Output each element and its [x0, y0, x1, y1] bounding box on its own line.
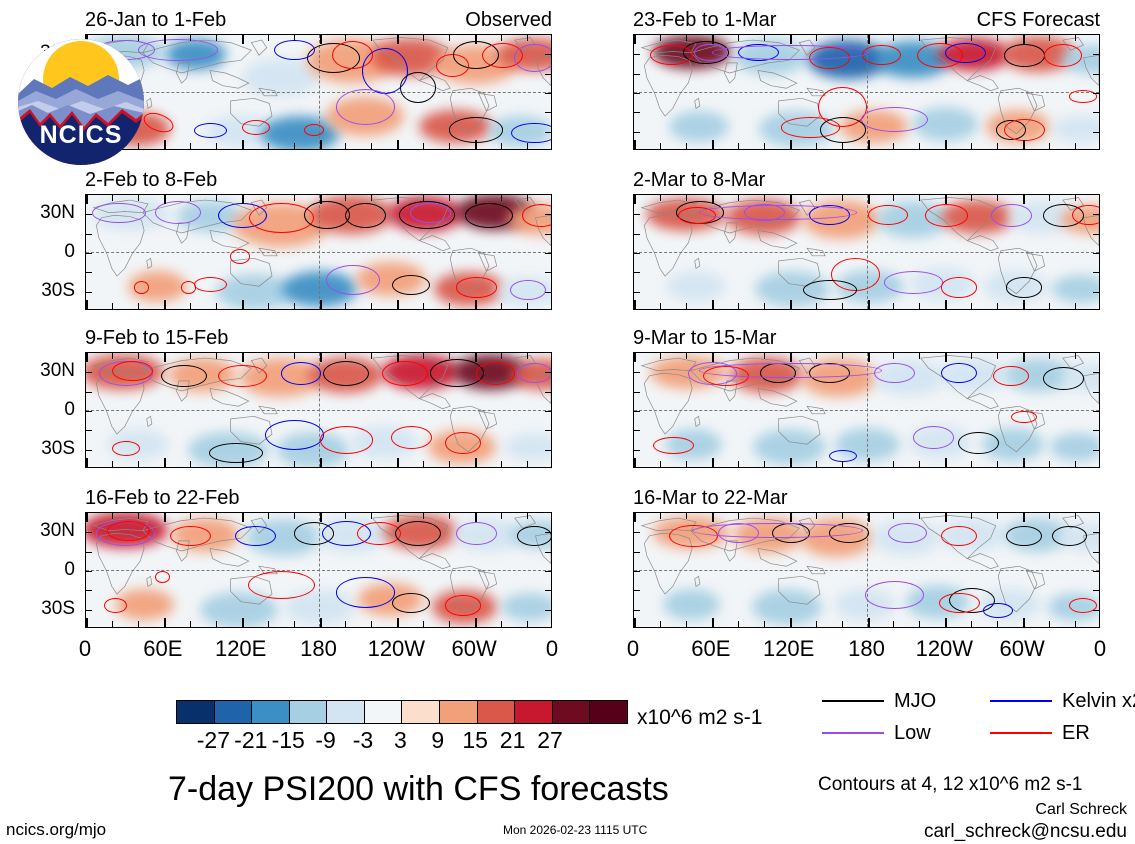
x-tick	[320, 618, 322, 627]
contour-ring-er	[112, 441, 140, 456]
y-tick	[86, 392, 92, 393]
x-tick	[816, 513, 817, 519]
x-tick	[268, 621, 269, 627]
x-tick	[868, 140, 870, 149]
contour-ring-low	[336, 89, 395, 125]
contour-ring-low	[456, 522, 497, 545]
x-tick	[971, 621, 972, 627]
legend-item-er: ER	[990, 720, 1090, 746]
y-tick	[634, 272, 640, 273]
x-tick	[919, 513, 920, 519]
y-tick	[1093, 132, 1099, 133]
colorbar-segment	[440, 701, 478, 723]
contour-ring-mjo	[323, 361, 369, 386]
x-tick	[164, 140, 166, 149]
y-tick	[634, 253, 640, 254]
contours-note: Contours at 4, 12 x10^6 m2 s-1	[818, 774, 1083, 796]
y-tick	[1093, 430, 1099, 431]
colorbar-units-label: x10^6 m2 s-1	[637, 706, 762, 730]
x-tick	[764, 461, 765, 467]
x-tick	[345, 195, 346, 201]
x-tick	[371, 195, 372, 201]
x-tick	[816, 35, 817, 41]
y-tick	[86, 430, 92, 431]
contour-ring-er	[1069, 598, 1097, 613]
y-tick	[86, 214, 92, 215]
y-tick	[545, 132, 551, 133]
x-tick	[945, 300, 947, 309]
x-tick	[397, 140, 399, 149]
y-tick	[634, 234, 640, 235]
x-tick	[764, 353, 765, 359]
x-tick	[634, 458, 636, 467]
x-tick	[86, 618, 88, 627]
x-tick	[997, 621, 998, 627]
x-tick	[112, 513, 113, 519]
colorbar-tick-label: 21	[500, 726, 526, 754]
x-tick	[449, 303, 450, 309]
y-tick	[545, 430, 551, 431]
x-tick	[686, 461, 687, 467]
y-tick	[1093, 214, 1099, 215]
x-tick	[423, 513, 424, 519]
x-tick	[712, 353, 714, 362]
x-tick	[112, 195, 113, 201]
contour-ring-kelvin	[194, 123, 227, 138]
x-tick	[790, 35, 792, 44]
x-tick	[320, 195, 322, 204]
y-tick	[634, 93, 640, 94]
x-tick	[686, 353, 687, 359]
x-tick	[1075, 513, 1076, 519]
x-tick	[997, 195, 998, 201]
x-tick	[764, 303, 765, 309]
contour-ring-mjo	[1052, 526, 1088, 546]
y-tick	[634, 590, 640, 591]
contour-ring-low	[888, 523, 926, 543]
x-tick	[320, 353, 322, 362]
x-tick	[816, 195, 817, 201]
legend-line-swatch	[990, 700, 1052, 702]
x-tick-label: 180	[848, 636, 885, 662]
x-tick	[893, 303, 894, 309]
x-tick	[919, 461, 920, 467]
y-tick	[86, 552, 92, 553]
y-tick-label: 0	[64, 242, 75, 261]
x-tick	[868, 513, 870, 522]
colorbar-tick-labels: -27-21-15-9-339152127	[176, 726, 625, 754]
x-tick	[268, 461, 269, 467]
timestamp: Mon 2026-02-23 1115 UTC	[503, 823, 647, 837]
panel-4: 16-Feb to 22-Feb	[85, 490, 552, 628]
x-tick	[919, 143, 920, 149]
contour-ring-kelvin	[945, 43, 986, 63]
x-tick	[1049, 195, 1050, 201]
x-tick	[423, 621, 424, 627]
x-tick	[397, 618, 399, 627]
x-tick	[1049, 621, 1050, 627]
y-tick	[86, 372, 92, 373]
x-tick	[738, 303, 739, 309]
legend-item-mjo: MJO	[822, 688, 936, 714]
y-tick	[545, 372, 551, 373]
legend-item-kelvin-x2: Kelvin x2	[990, 688, 1135, 714]
x-tick-label: 60W	[1000, 636, 1045, 662]
contour-ring-mjo	[1006, 277, 1042, 297]
y-axis-labels: 30N030S	[0, 352, 75, 468]
x-tick	[268, 195, 269, 201]
contour-ring-mjo	[345, 203, 386, 228]
x-tick	[371, 513, 372, 519]
x-tick	[501, 621, 502, 627]
y-tick	[545, 272, 551, 273]
x-tick	[423, 353, 424, 359]
x-tick	[423, 303, 424, 309]
x-tick	[475, 618, 477, 627]
contour-ring-kelvin	[511, 123, 552, 143]
colorbar-tick-label: -15	[272, 726, 305, 754]
panel-3: 9-Feb to 15-Feb	[85, 330, 552, 468]
x-tick	[86, 195, 88, 204]
x-tick	[242, 513, 244, 522]
x-tick	[660, 143, 661, 149]
x-tick	[397, 353, 399, 362]
x-tick	[371, 143, 372, 149]
map-axes	[633, 34, 1100, 150]
x-tick	[294, 621, 295, 627]
x-tick	[997, 353, 998, 359]
panel-title: 9-Mar to 15-Mar	[633, 328, 776, 348]
y-tick	[1093, 292, 1099, 293]
x-tick	[242, 618, 244, 627]
x-tick	[112, 461, 113, 467]
colorbar-tick-label: 15	[462, 726, 488, 754]
y-tick	[545, 532, 551, 533]
x-tick	[501, 195, 502, 201]
x-tick	[842, 353, 843, 359]
x-tick-label: 0	[79, 636, 91, 662]
x-tick	[294, 143, 295, 149]
contour-legend: MJOLowKelvin x2ER	[822, 688, 1132, 750]
x-tick	[449, 195, 450, 201]
x-tick	[919, 195, 920, 201]
x-tick	[164, 300, 166, 309]
y-tick	[1093, 392, 1099, 393]
x-tick	[660, 35, 661, 41]
x-tick	[242, 195, 244, 204]
contour-ring-low	[865, 581, 924, 609]
panel-2: 2-Feb to 8-Feb	[85, 172, 552, 310]
legend-label: MJO	[894, 691, 936, 711]
panel-7: 9-Mar to 15-Mar	[633, 330, 1100, 468]
y-tick	[86, 411, 92, 412]
x-tick	[790, 140, 792, 149]
contour-ring-mjo	[958, 432, 999, 455]
x-tick	[686, 35, 687, 41]
y-tick	[545, 571, 551, 572]
y-tick	[634, 112, 640, 113]
x-tick	[971, 461, 972, 467]
y-tick	[545, 450, 551, 451]
y-tick	[1093, 552, 1099, 553]
contour-ring-er	[941, 526, 977, 546]
x-tick	[634, 300, 636, 309]
contour-ring-low	[410, 203, 451, 223]
y-tick	[545, 292, 551, 293]
x-tick	[138, 621, 139, 627]
panel-5: 23-Feb to 1-MarCFS Forecast	[633, 12, 1100, 150]
x-tick	[423, 461, 424, 467]
author-name: Carl Schreck	[1035, 800, 1127, 819]
x-tick	[216, 195, 217, 201]
contour-ring-er	[104, 598, 127, 613]
y-tick	[1093, 372, 1099, 373]
y-tick-label: 30N	[40, 203, 75, 222]
y-tick	[634, 610, 640, 611]
x-tick	[919, 621, 920, 627]
y-tick	[634, 292, 640, 293]
panel-6: 2-Mar to 8-Mar	[633, 172, 1100, 310]
contour-ring-mjo	[517, 526, 552, 546]
x-tick	[475, 140, 477, 149]
y-tick-label: 30N	[40, 521, 75, 540]
x-tick	[320, 140, 322, 149]
y-tick	[86, 272, 92, 273]
x-tick	[1023, 618, 1025, 627]
contour-ring-mjo	[465, 203, 514, 228]
x-tick	[527, 303, 528, 309]
x-tick	[712, 35, 714, 44]
map-axes	[633, 352, 1100, 468]
contour-ring-low	[326, 265, 380, 295]
x-tick	[686, 195, 687, 201]
x-tick	[1023, 140, 1025, 149]
x-tick	[320, 513, 322, 522]
x-tick	[1023, 513, 1025, 522]
contour-ring-er	[107, 521, 151, 541]
contour-ring-kelvin	[829, 450, 857, 462]
colorbar-tick-label: 3	[394, 726, 407, 754]
x-tick	[501, 303, 502, 309]
x-tick	[971, 35, 972, 41]
x-tick	[790, 195, 792, 204]
x-tick	[945, 618, 947, 627]
x-tick-label: 120W	[368, 636, 425, 662]
x-tick-label: 120E	[763, 636, 814, 662]
x-tick	[738, 195, 739, 201]
panel-title: 23-Feb to 1-Mar	[633, 10, 776, 30]
x-tick	[216, 621, 217, 627]
contour-ring-er	[155, 571, 170, 583]
x-tick	[138, 513, 139, 519]
x-tick	[501, 461, 502, 467]
x-tick	[816, 353, 817, 359]
contour-ring-mjo	[449, 117, 503, 142]
x-tick	[842, 461, 843, 467]
x-tick	[1023, 458, 1025, 467]
x-tick-label: 60E	[691, 636, 730, 662]
y-tick	[545, 93, 551, 94]
contour-ring-mjo	[803, 280, 857, 300]
x-tick	[945, 35, 947, 44]
x-tick	[138, 353, 139, 359]
y-tick	[545, 411, 551, 412]
x-tick	[712, 458, 714, 467]
x-tick	[842, 35, 843, 41]
x-tick	[1075, 461, 1076, 467]
y-tick	[634, 74, 640, 75]
x-tick	[294, 461, 295, 467]
x-tick	[242, 35, 244, 44]
colorbar-segment	[365, 701, 403, 723]
x-tick	[790, 458, 792, 467]
x-tick	[86, 353, 88, 362]
x-tick	[397, 300, 399, 309]
colorbar-tick-label: 27	[537, 726, 563, 754]
x-tick	[893, 195, 894, 201]
contour-ring-low	[913, 426, 954, 449]
x-tick	[971, 195, 972, 201]
colorbar-tick-label: -21	[234, 726, 267, 754]
contour-ring-er	[242, 120, 270, 135]
contour-ring-mjo	[392, 593, 430, 613]
x-tick	[893, 513, 894, 519]
x-tick	[919, 303, 920, 309]
contour-ring-er	[230, 249, 250, 264]
y-tick	[1093, 54, 1099, 55]
x-tick	[971, 513, 972, 519]
x-tick	[86, 300, 88, 309]
x-tick	[475, 35, 477, 44]
x-tick	[816, 303, 817, 309]
y-tick	[1093, 532, 1099, 533]
colorbar-segment	[553, 701, 591, 723]
x-tick	[738, 353, 739, 359]
site-url: ncics.org/mjo	[6, 820, 106, 840]
x-tick-label: 60E	[143, 636, 182, 662]
x-tick	[660, 621, 661, 627]
y-tick	[634, 532, 640, 533]
x-tick	[190, 461, 191, 467]
x-tick	[294, 513, 295, 519]
y-tick	[545, 74, 551, 75]
x-tick	[501, 35, 502, 41]
x-tick	[527, 461, 528, 467]
colorbar-tick-label: -9	[315, 726, 335, 754]
x-tick	[397, 35, 399, 44]
colorbar-segment	[177, 701, 215, 723]
y-tick	[86, 450, 92, 451]
x-tick	[686, 303, 687, 309]
y-tick-label: 30N	[40, 361, 75, 380]
x-tick	[712, 300, 714, 309]
y-tick	[86, 610, 92, 611]
contour-ring-kelvin	[281, 362, 322, 385]
colorbar-segment	[327, 701, 365, 723]
contour-ring-low	[514, 44, 552, 72]
x-tick	[997, 461, 998, 467]
x-tick	[842, 143, 843, 149]
contour-ring-er	[248, 571, 315, 599]
contour-ring-low	[884, 271, 943, 294]
x-tick-label: 0	[627, 636, 639, 662]
x-tick	[997, 35, 998, 41]
colorbar-segment	[402, 701, 440, 723]
y-tick	[1093, 253, 1099, 254]
x-tick	[268, 143, 269, 149]
x-tick	[268, 303, 269, 309]
contour-ring-er	[1004, 119, 1045, 142]
x-tick	[112, 621, 113, 627]
contour-ring-er	[218, 365, 267, 388]
x-tick	[138, 461, 139, 467]
panel-title: 26-Jan to 1-Feb	[85, 10, 226, 30]
y-tick	[1093, 411, 1099, 412]
x-tick	[1023, 35, 1025, 44]
x-tick	[475, 458, 477, 467]
y-tick	[545, 54, 551, 55]
panel-column-tag: CFS Forecast	[977, 10, 1100, 30]
legend-line-swatch	[990, 732, 1052, 734]
x-tick	[764, 621, 765, 627]
x-tick	[712, 195, 714, 204]
main-title: 7-day PSI200 with CFS forecasts	[168, 770, 669, 808]
x-tick	[164, 618, 166, 627]
contour-ring-low	[155, 201, 201, 224]
author-email: carl_schreck@ncsu.edu	[924, 821, 1127, 842]
x-tick	[1075, 195, 1076, 201]
x-tick	[345, 303, 346, 309]
contour-ring-mjo	[1004, 44, 1045, 67]
panel-title: 2-Feb to 8-Feb	[85, 170, 217, 190]
y-tick	[1093, 610, 1099, 611]
x-tick	[527, 513, 528, 519]
x-tick	[945, 140, 947, 149]
x-tick	[634, 618, 636, 627]
contour-ring-er	[445, 595, 481, 615]
x-tick	[164, 458, 166, 467]
x-tick	[738, 143, 739, 149]
x-tick	[686, 621, 687, 627]
x-tick	[893, 35, 894, 41]
x-tick	[634, 35, 636, 44]
x-tick	[816, 143, 817, 149]
x-tick	[294, 195, 295, 201]
x-tick	[320, 300, 322, 309]
x-tick-label: 0	[546, 636, 558, 662]
y-tick	[634, 552, 640, 553]
contour-ring-er	[134, 281, 149, 293]
x-tick	[816, 461, 817, 467]
x-tick	[660, 353, 661, 359]
legend-label: ER	[1062, 723, 1090, 743]
y-tick	[634, 571, 640, 572]
x-tick	[216, 353, 217, 359]
map-axes	[633, 512, 1100, 628]
x-axis-labels: 060E120E180120W60W0	[85, 636, 552, 662]
x-tick	[1049, 353, 1050, 359]
x-tick	[423, 195, 424, 201]
y-tick	[545, 112, 551, 113]
x-tick	[138, 35, 139, 41]
contour-ring-er	[993, 366, 1029, 386]
x-tick	[164, 353, 166, 362]
x-tick	[842, 303, 843, 309]
contour-ring-mjo	[400, 72, 436, 102]
colorbar	[176, 700, 628, 724]
x-tick	[764, 35, 765, 41]
x-tick	[945, 513, 947, 522]
